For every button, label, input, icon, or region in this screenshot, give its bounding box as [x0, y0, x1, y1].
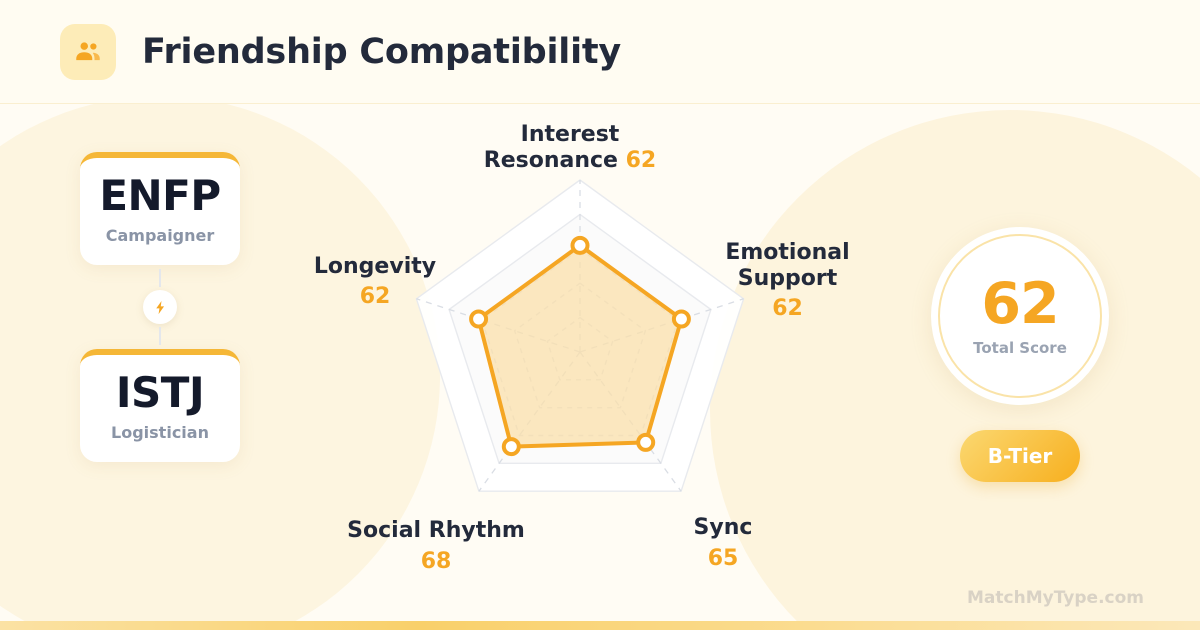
type-connector [80, 265, 240, 349]
radar-label-text-interest: Interest Resonance [484, 122, 620, 173]
tier-badge-label: B-Tier [988, 444, 1053, 468]
page-header: Friendship Compatibility [0, 0, 1200, 104]
personality-name-first: Campaigner [86, 226, 234, 245]
connector-line-bottom [159, 327, 161, 345]
radar-value-emotional: 62 [690, 296, 885, 322]
site-watermark: MatchMyType.com [967, 588, 1144, 608]
radar-value-interest: 62 [626, 148, 657, 173]
radar-label-text-longevity: Longevity [314, 254, 436, 279]
radar-value-social: 68 [330, 549, 542, 575]
radar-label-longevity: Longevity 62 [280, 254, 470, 310]
radar-value-sync: 65 [655, 546, 791, 572]
people-group-icon [60, 24, 116, 80]
radar-value-longevity: 62 [280, 284, 470, 310]
personality-name-second: Logistician [86, 423, 234, 442]
bottom-accent-bar [0, 621, 1200, 630]
tier-badge: B-Tier [960, 430, 1080, 482]
personality-code-first: ENFP [86, 174, 234, 218]
radar-label-sync: Sync 65 [655, 515, 791, 572]
personality-card-second[interactable]: ISTJ Logistician [80, 349, 240, 462]
page-title: Friendship Compatibility [142, 32, 621, 72]
radar-label-text-sync: Sync [694, 515, 753, 540]
personality-card-first[interactable]: ENFP Campaigner [80, 152, 240, 265]
total-score-value: 62 [981, 276, 1058, 333]
total-score-label: Total Score [973, 339, 1067, 357]
lightning-bolt-icon [143, 290, 177, 324]
radar-label-emotional-support: Emotional Support 62 [690, 240, 885, 322]
radar-label-text-emotional: Emotional Support [725, 240, 849, 291]
personality-type-pair: ENFP Campaigner ISTJ Logistician [80, 152, 240, 462]
personality-code-second: ISTJ [86, 371, 234, 415]
radar-label-interest-resonance: Interest Resonance 62 [460, 122, 680, 174]
radar-label-text-social: Social Rhythm [347, 518, 525, 543]
radar-label-social-rhythm: Social Rhythm 68 [330, 518, 542, 575]
total-score-circle: 62 Total Score [931, 227, 1109, 405]
connector-line-top [159, 269, 161, 287]
